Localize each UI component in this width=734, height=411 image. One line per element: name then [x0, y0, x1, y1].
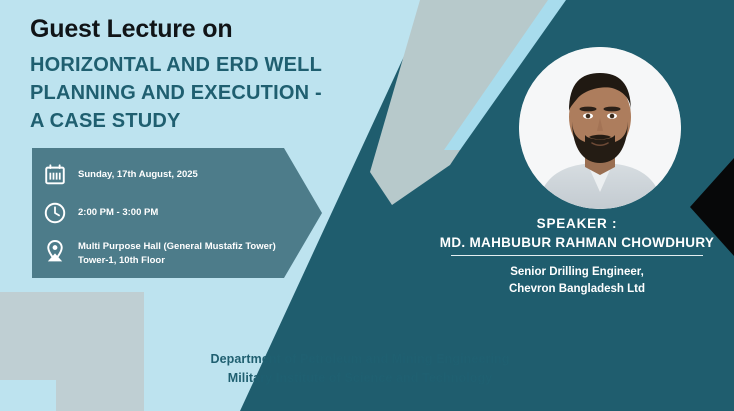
speaker-photo — [519, 47, 681, 209]
speaker-name: MD. MAHBUBUR RAHMAN CHOWDHURY — [420, 235, 734, 255]
detail-venue-line-1: Multi Purpose Hall (General Mustafiz Tow… — [78, 241, 276, 252]
footer-inner: Department of Petroleum and Mining Engin… — [0, 350, 727, 389]
detail-date-text: Sunday, 17th August, 2025 — [78, 162, 198, 182]
location-pin-icon — [42, 238, 68, 264]
organiser-footer: Department of Petroleum and Mining Engin… — [0, 350, 734, 389]
headline-line-1: HORIZONTAL AND ERD WELL — [30, 51, 322, 79]
detail-time-text: 2:00 PM - 3:00 PM — [78, 200, 158, 220]
footer-institute: Military Institute of Science and Techno… — [0, 369, 727, 388]
speaker-role-line-1: Senior Drilling Engineer, — [420, 264, 734, 281]
headline-line-3: A CASE STUDY — [30, 107, 322, 135]
speaker-role-line-2: Chevron Bangladesh Ltd — [420, 281, 734, 298]
calendar-icon — [42, 162, 68, 188]
poster-headline: HORIZONTAL AND ERD WELL PLANNING AND EXE… — [30, 51, 322, 136]
lecture-poster: Guest Lecture on HORIZONTAL AND ERD WELL… — [0, 0, 734, 411]
speaker-info: SPEAKER : MD. MAHBUBUR RAHMAN CHOWDHURY … — [420, 216, 734, 297]
detail-row-time: 2:00 PM - 3:00 PM — [42, 200, 322, 226]
detail-venue-line-2: Tower-1, 10th Floor — [78, 255, 165, 266]
poster-kicker: Guest Lecture on — [30, 14, 322, 45]
event-details-list: Sunday, 17th August, 2025 2:00 PM - 3:00… — [32, 148, 322, 278]
detail-row-venue: Multi Purpose Hall (General Mustafiz Tow… — [42, 238, 322, 268]
speaker-label: SPEAKER : — [420, 216, 734, 231]
footer-department: Department of Petroleum and Mining Engin… — [0, 350, 727, 369]
clock-icon — [42, 200, 68, 226]
detail-row-date: Sunday, 17th August, 2025 — [42, 162, 322, 188]
speaker-divider — [451, 255, 703, 256]
title-block: Guest Lecture on HORIZONTAL AND ERD WELL… — [30, 14, 322, 136]
headline-line-2: PLANNING AND EXECUTION - — [30, 79, 322, 107]
detail-venue-text: Multi Purpose Hall (General Mustafiz Tow… — [78, 238, 276, 268]
